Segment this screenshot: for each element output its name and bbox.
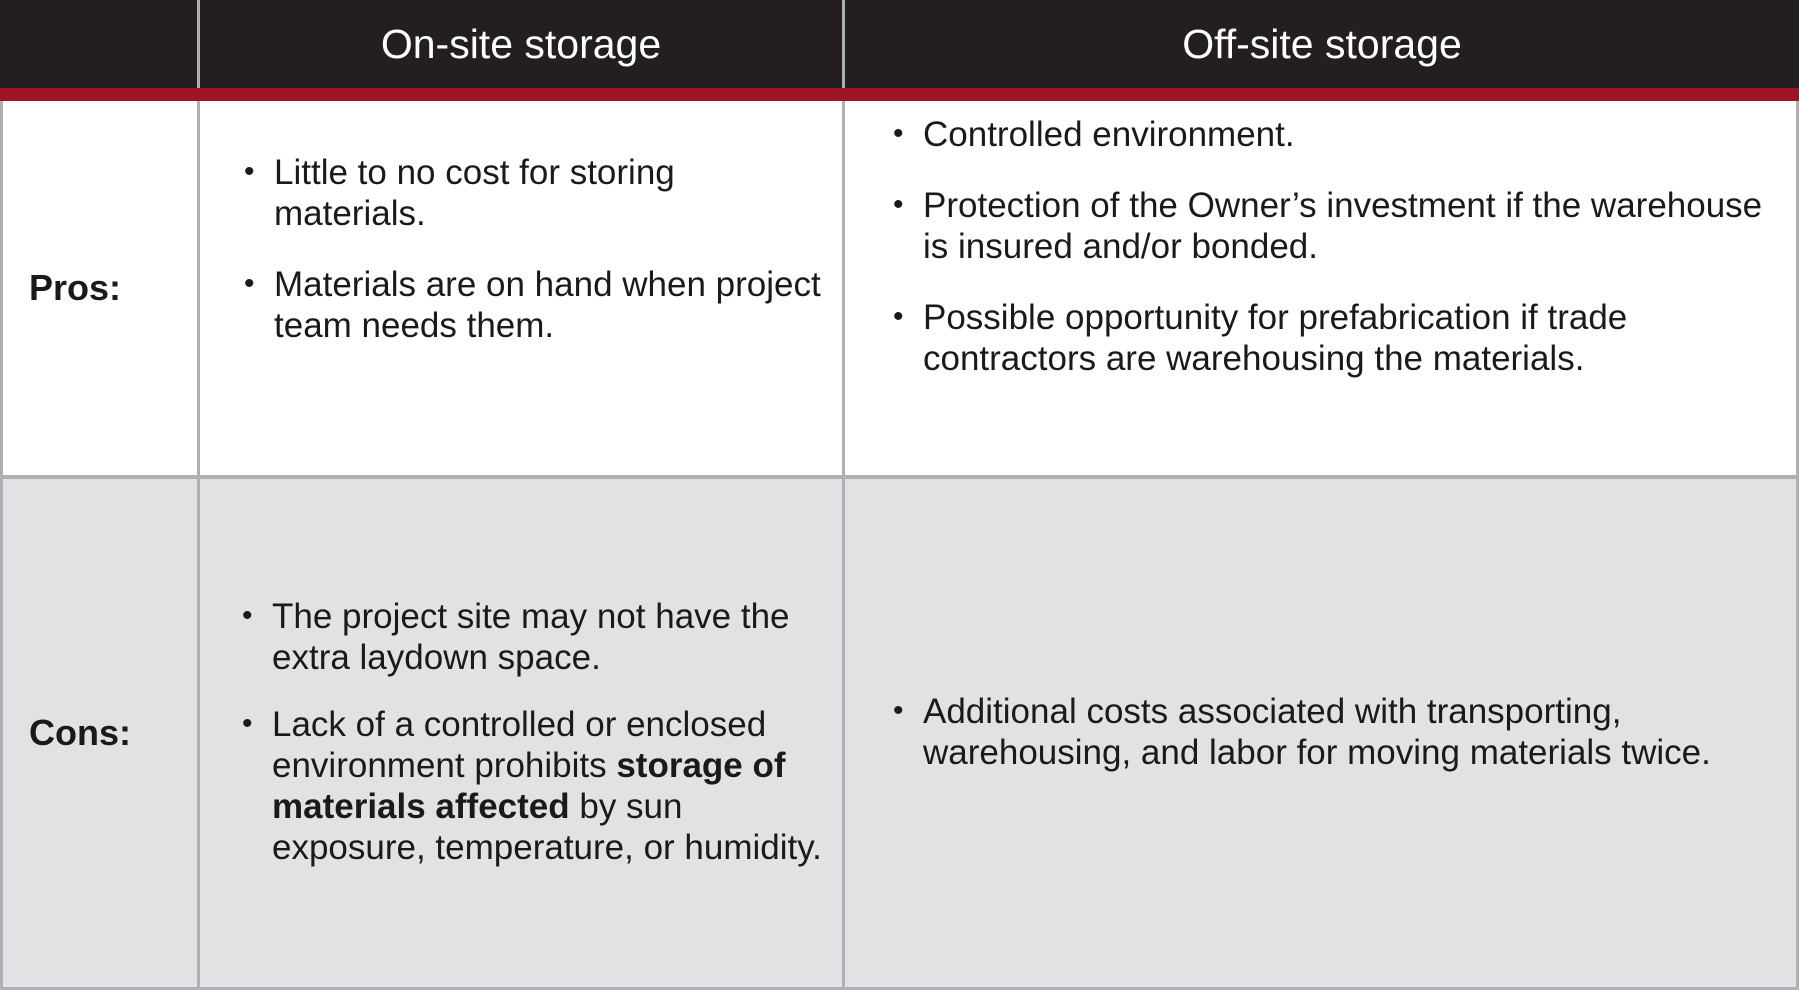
list-item: Possible opportunity for prefabrication …	[875, 298, 1780, 380]
list-item: Materials are on hand when project team …	[226, 265, 832, 347]
row-label-pros-text: Pros:	[29, 267, 121, 309]
list-item: Protection of the Owner’s investment if …	[875, 186, 1780, 268]
cons-offsite-cell: Additional costs associated with transpo…	[845, 479, 1796, 987]
list-item: Little to no cost for storing materials.	[226, 153, 832, 235]
list-item-rich: Lack of a controlled or enclosed environ…	[224, 705, 832, 869]
row-label-pros-cell: Pros:	[3, 101, 200, 475]
pros-onsite-list: Little to no cost for storing materials.…	[226, 153, 832, 347]
row-label-cons-text: Cons:	[29, 712, 131, 754]
table-header-row: On-site storage Off-site storage	[0, 0, 1799, 88]
cons-onsite-list: The project site may not have the extra …	[224, 597, 832, 869]
cons-onsite-cell: The project site may not have the extra …	[200, 479, 845, 987]
cons-offsite-list: Additional costs associated with transpo…	[875, 692, 1780, 774]
table-header-onsite: On-site storage	[200, 0, 845, 88]
list-item: The project site may not have the extra …	[224, 597, 832, 679]
table-body: Pros: Little to no cost for storing mate…	[0, 101, 1799, 990]
row-label-cons-cell: Cons:	[3, 479, 200, 987]
table-row-cons: Cons: The project site may not have the …	[3, 479, 1796, 987]
table-header-corner-cell	[0, 0, 200, 88]
pros-offsite-cell: Controlled environment. Protection of th…	[845, 101, 1796, 475]
pros-onsite-cell: Little to no cost for storing materials.…	[200, 101, 845, 475]
table-row-pros: Pros: Little to no cost for storing mate…	[3, 101, 1796, 479]
accent-divider-bar	[0, 88, 1799, 101]
comparison-table: On-site storage Off-site storage Pros: L…	[0, 0, 1799, 990]
pros-offsite-list: Controlled environment. Protection of th…	[875, 115, 1780, 380]
table-header-offsite: Off-site storage	[845, 0, 1799, 88]
list-item: Controlled environment.	[875, 115, 1780, 156]
list-item: Additional costs associated with transpo…	[875, 692, 1780, 774]
